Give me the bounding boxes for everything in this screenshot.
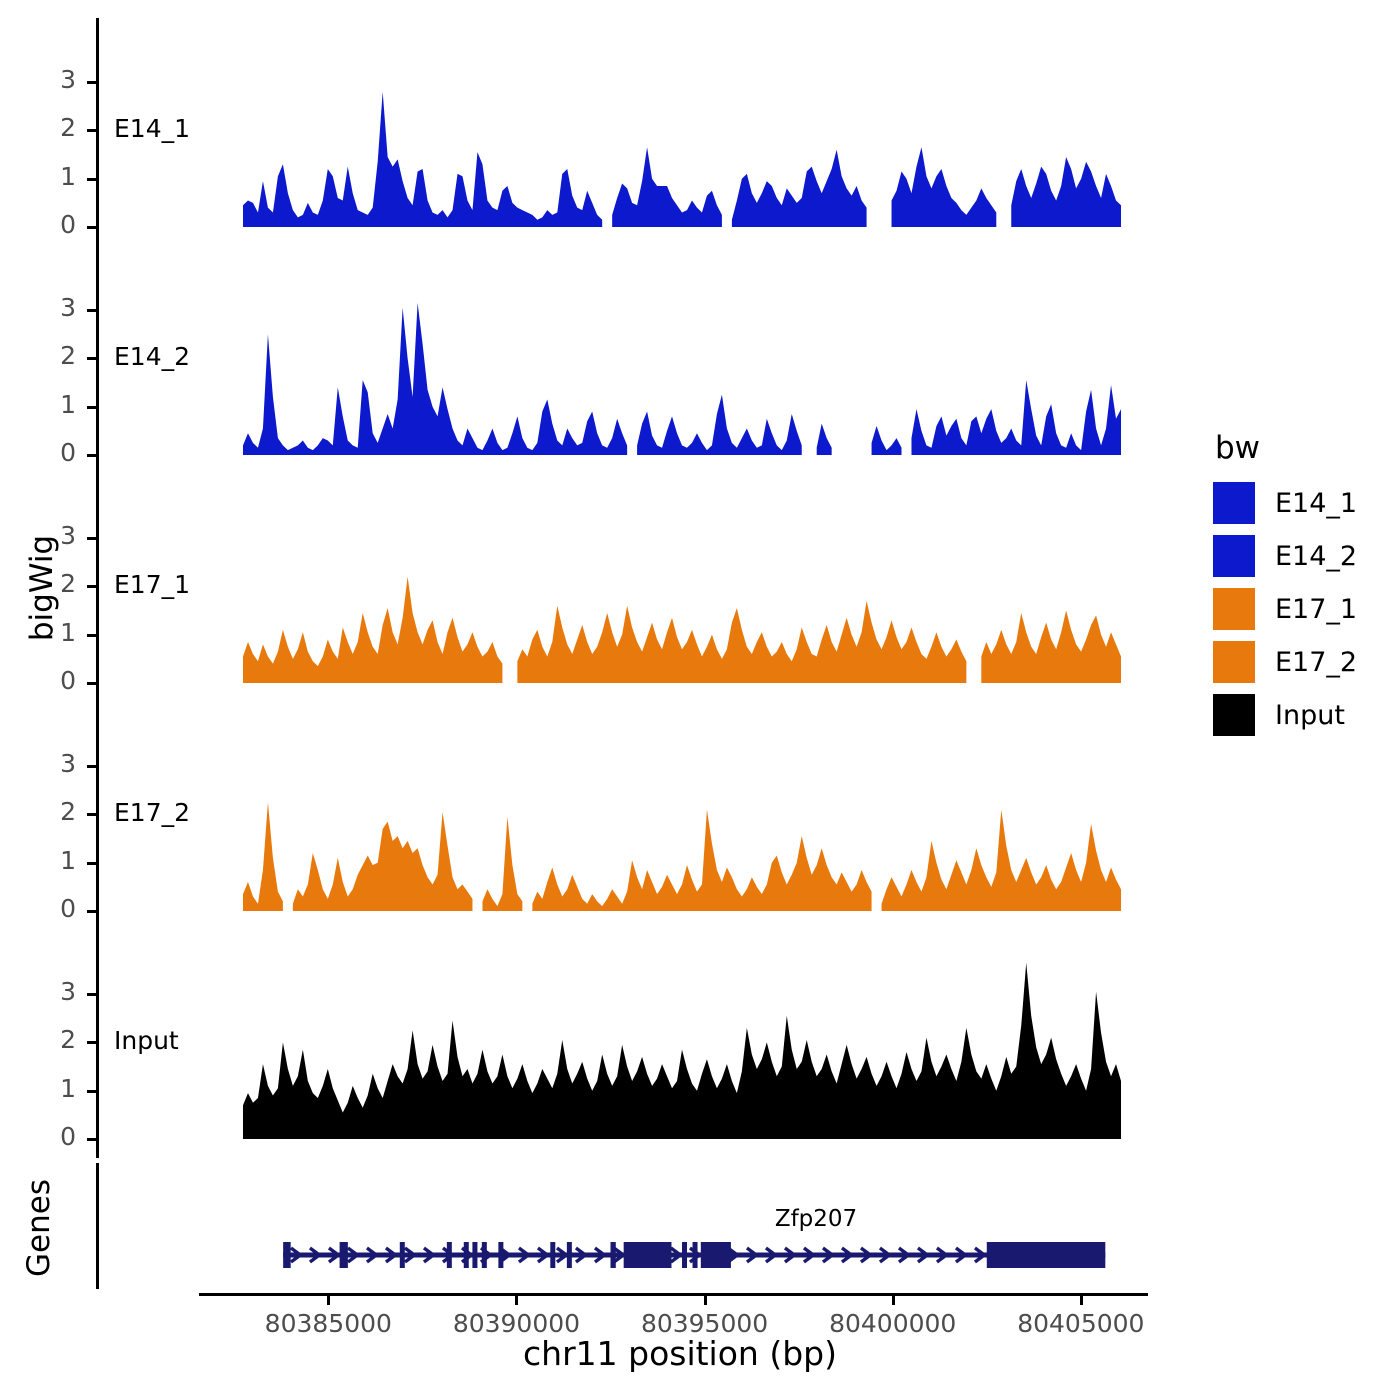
signal-area-segment — [532, 810, 871, 911]
signal-area-segment — [243, 577, 502, 683]
legend-swatch-input — [1213, 694, 1255, 736]
gene-exon — [611, 1242, 616, 1268]
x-tick — [515, 1295, 518, 1305]
legend-label: E17_2 — [1275, 647, 1357, 678]
gene-exon — [482, 1242, 487, 1268]
y-tick-label: 3 — [16, 293, 76, 322]
legend-title: bw — [1215, 430, 1260, 466]
legend-label: Input — [1275, 700, 1345, 731]
legend-label: E14_1 — [1275, 488, 1357, 519]
gene-model[interactable] — [96, 1163, 1136, 1293]
y-tick-label: 2 — [16, 569, 76, 598]
x-tick-label: 80385000 — [228, 1309, 428, 1338]
signal-area-segment — [817, 424, 832, 455]
y-tick — [87, 1041, 96, 1044]
x-tick — [327, 1295, 330, 1305]
y-tick — [87, 454, 96, 457]
legend-item-e17_2[interactable]: E17_2 — [1213, 641, 1357, 683]
legend-label: E17_1 — [1275, 594, 1357, 625]
signal-track-input — [96, 930, 1136, 1158]
signal-track-e14_1 — [96, 18, 1136, 246]
signal-area-segment — [293, 812, 473, 911]
x-axis-line — [199, 1293, 1148, 1296]
signal-area-segment — [612, 147, 722, 227]
panel-e17_2: 0123E17_2 — [96, 702, 1136, 930]
x-tick-label: 80395000 — [605, 1309, 805, 1338]
gene-exon — [701, 1242, 731, 1268]
legend: bw E14_1E14_2E17_1E17_2Input — [1213, 430, 1393, 710]
legend-item-e17_1[interactable]: E17_1 — [1213, 588, 1357, 630]
legend-swatch-e14_2 — [1213, 535, 1255, 577]
signal-track-e17_1 — [96, 474, 1136, 702]
signal-area-segment — [517, 601, 966, 683]
y-tick-label: 3 — [16, 521, 76, 550]
y-tick — [87, 129, 96, 132]
y-tick — [87, 765, 96, 768]
y-tick-label: 1 — [16, 846, 76, 875]
y-tick-label: 2 — [16, 797, 76, 826]
panel-e14_2: 0123E14_2 — [96, 246, 1136, 474]
y-tick-label: 1 — [16, 162, 76, 191]
x-tick-label: 80400000 — [793, 1309, 993, 1338]
gene-exon — [550, 1242, 555, 1268]
panel-e17_1: 0123E17_1 — [96, 474, 1136, 702]
signal-area-segment — [981, 611, 1121, 683]
gene-exon — [498, 1242, 503, 1268]
y-axis-title-genes: Genes — [21, 1163, 57, 1293]
panel-input: 0123Input — [96, 930, 1136, 1158]
y-tick-label: 1 — [16, 1074, 76, 1103]
y-tick-label: 1 — [16, 618, 76, 647]
y-tick — [87, 357, 96, 360]
y-tick — [87, 862, 96, 865]
signal-track-e17_2 — [96, 702, 1136, 930]
y-tick-label: 0 — [16, 210, 76, 239]
signal-area-segment — [243, 802, 283, 911]
y-tick — [87, 813, 96, 816]
x-tick — [892, 1295, 895, 1305]
legend-swatch-e17_2 — [1213, 641, 1255, 683]
y-tick — [87, 537, 96, 540]
signal-area-segment — [243, 303, 627, 455]
signal-track-e14_2 — [96, 246, 1136, 474]
gene-exon — [340, 1242, 348, 1268]
gene-exon — [567, 1242, 572, 1268]
y-tick-label: 0 — [16, 666, 76, 695]
signal-area-segment — [911, 380, 1121, 455]
y-tick-label: 3 — [16, 749, 76, 778]
y-tick — [87, 1090, 96, 1093]
y-tick — [87, 406, 96, 409]
signal-area-segment — [243, 963, 1121, 1139]
y-tick-label: 0 — [16, 438, 76, 467]
signal-area-segment — [482, 817, 522, 911]
y-tick — [87, 1138, 96, 1141]
y-tick — [87, 682, 96, 685]
gene-exon — [400, 1242, 405, 1268]
gene-exon — [447, 1242, 452, 1268]
legend-swatch-e17_1 — [1213, 588, 1255, 630]
y-tick — [87, 910, 96, 913]
gene-exon — [283, 1242, 291, 1268]
legend-label: E14_2 — [1275, 541, 1357, 572]
legend-item-input[interactable]: Input — [1213, 694, 1345, 736]
signal-area-segment — [1011, 157, 1121, 227]
legend-swatch-e14_1 — [1213, 482, 1255, 524]
y-tick — [87, 81, 96, 84]
signal-area-segment — [243, 92, 602, 227]
signal-area-segment — [892, 147, 997, 227]
x-axis-title: chr11 position (bp) — [180, 1334, 1180, 1373]
y-tick-label: 0 — [16, 894, 76, 923]
x-tick — [704, 1295, 707, 1305]
y-tick-label: 2 — [16, 1025, 76, 1054]
y-tick — [87, 634, 96, 637]
signal-area-segment — [732, 150, 867, 227]
y-tick — [87, 226, 96, 229]
y-tick — [87, 309, 96, 312]
x-tick-label: 80390000 — [416, 1309, 616, 1338]
genes-panel: Zfp207 — [96, 1163, 1136, 1289]
signal-area-segment — [882, 810, 1121, 911]
panel-e14_1: 0123E14_1 — [96, 18, 1136, 246]
gene-exon — [693, 1242, 698, 1268]
x-tick — [1080, 1295, 1083, 1305]
y-tick-label: 2 — [16, 341, 76, 370]
y-tick-label: 0 — [16, 1122, 76, 1151]
gene-exon — [472, 1242, 477, 1268]
x-tick-label: 80405000 — [981, 1309, 1181, 1338]
signal-area-segment — [637, 395, 802, 455]
y-tick-label: 1 — [16, 390, 76, 419]
y-tick-label: 3 — [16, 977, 76, 1006]
gene-exon — [464, 1242, 469, 1268]
y-tick-label: 2 — [16, 113, 76, 142]
y-tick-label: 3 — [16, 65, 76, 94]
legend-item-e14_1[interactable]: E14_1 — [1213, 482, 1357, 524]
y-tick — [87, 993, 96, 996]
legend-item-e14_2[interactable]: E14_2 — [1213, 535, 1357, 577]
y-tick — [87, 585, 96, 588]
y-tick — [87, 178, 96, 181]
gene-exon — [682, 1242, 687, 1268]
signal-area-segment — [872, 426, 902, 455]
gene-exon — [624, 1242, 672, 1268]
gene-exon — [987, 1242, 1106, 1268]
